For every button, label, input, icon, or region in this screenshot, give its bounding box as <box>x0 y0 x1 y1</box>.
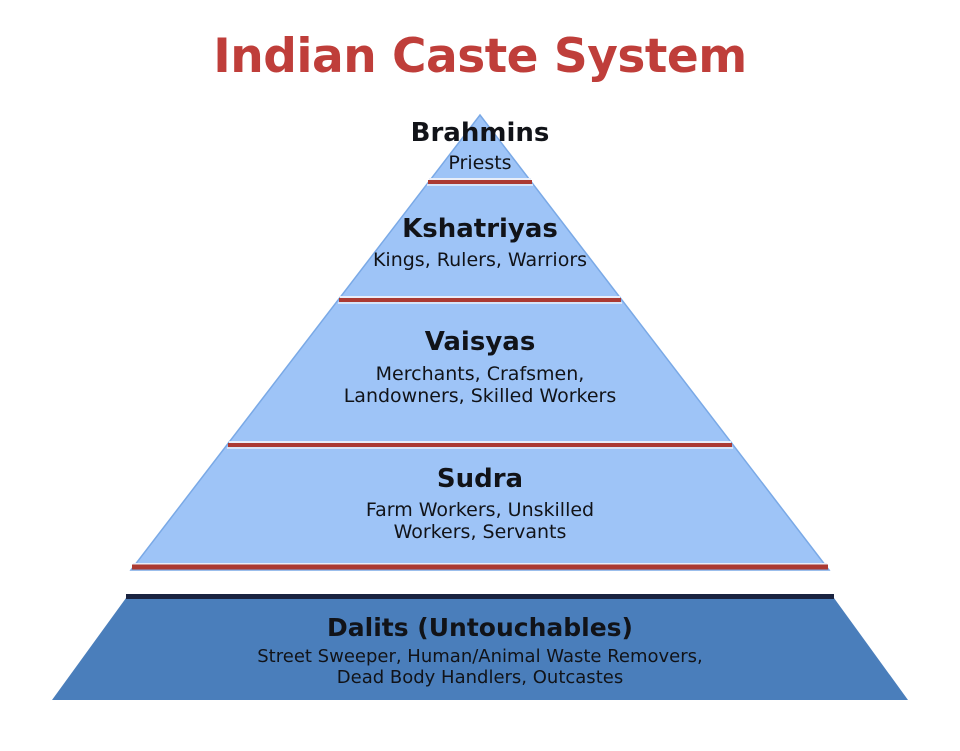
tier-brahmins-name: Brahmins <box>0 118 960 149</box>
tier-sudra-role-line-1: Farm Workers, Unskilled <box>0 499 960 521</box>
divider-sudra-base <box>132 564 828 567</box>
tier-brahmins-role-line: Priests <box>0 152 960 174</box>
tier-kshatriyas-roles: Kings, Rulers, Warriors <box>0 249 960 271</box>
tier-sudra: Sudra Farm Workers, Unskilled Workers, S… <box>0 464 960 543</box>
tier-kshatriyas: Kshatriyas Kings, Rulers, Warriors <box>0 214 960 271</box>
tier-dalits-role-line-1: Street Sweeper, Human/Animal Waste Remov… <box>0 646 960 667</box>
tier-vaisyas-role-line-2: Landowners, Skilled Workers <box>0 385 960 407</box>
tier-dalits-roles: Street Sweeper, Human/Animal Waste Remov… <box>0 646 960 688</box>
tier-brahmins-roles: Priests <box>0 152 960 174</box>
tier-brahmins: Brahmins Priests <box>0 118 960 174</box>
tier-vaisyas-name: Vaisyas <box>0 327 960 358</box>
tier-kshatriyas-role-line: Kings, Rulers, Warriors <box>0 249 960 271</box>
tier-vaisyas-role-line-1: Merchants, Crafsmen, <box>0 363 960 385</box>
tier-dalits-name: Dalits (Untouchables) <box>0 613 960 643</box>
tier-sudra-role-line-2: Workers, Servants <box>0 521 960 543</box>
tier-dalits: Dalits (Untouchables) Street Sweeper, Hu… <box>0 613 960 688</box>
caste-system-infographic: Indian Caste System <box>0 0 960 751</box>
dalits-block-top-border <box>126 594 834 599</box>
tier-sudra-roles: Farm Workers, Unskilled Workers, Servant… <box>0 499 960 544</box>
tier-sudra-name: Sudra <box>0 464 960 495</box>
tier-vaisyas: Vaisyas Merchants, Crafsmen, Landowners,… <box>0 327 960 407</box>
tier-kshatriyas-name: Kshatriyas <box>0 214 960 245</box>
tier-vaisyas-roles: Merchants, Crafsmen, Landowners, Skilled… <box>0 363 960 408</box>
tier-dalits-role-line-2: Dead Body Handlers, Outcastes <box>0 667 960 688</box>
